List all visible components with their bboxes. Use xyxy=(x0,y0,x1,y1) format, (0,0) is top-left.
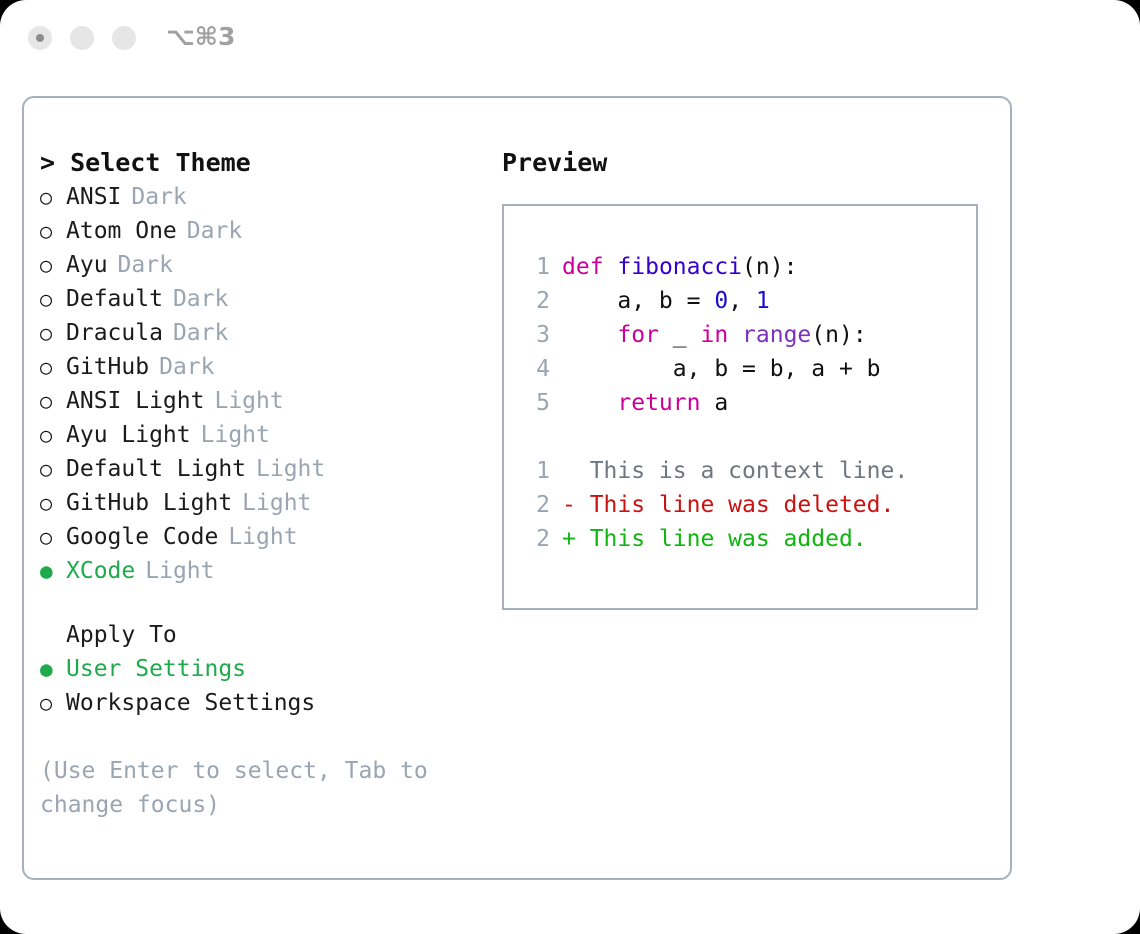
theme-kind-label: Light xyxy=(242,486,311,520)
code-token-num: 1 xyxy=(756,288,770,314)
code-token-pl: a, b = b, a + b xyxy=(562,356,881,382)
theme-option-default[interactable]: ○DefaultDark xyxy=(40,282,480,316)
theme-name-label: Default Light xyxy=(66,452,246,486)
theme-kind-label: Dark xyxy=(131,180,186,214)
code-token-kw: for xyxy=(617,322,659,348)
radio-unselected-icon: ○ xyxy=(40,316,66,350)
radio-unselected-icon: ○ xyxy=(40,248,66,282)
theme-selection-column: > Select Theme ○ANSIDark○Atom OneDark○Ay… xyxy=(40,146,480,822)
select-theme-heading: > Select Theme xyxy=(40,146,480,180)
diff-text-add: + This line was added. xyxy=(562,522,867,556)
spacer xyxy=(40,588,480,618)
code-token-pl: a xyxy=(700,390,728,416)
line-number: 2 xyxy=(520,488,550,522)
radio-unselected-icon: ○ xyxy=(40,180,66,214)
theme-list: ○ANSIDark○Atom OneDark○AyuDark○DefaultDa… xyxy=(40,180,480,588)
theme-name-label: Ayu Light xyxy=(66,418,191,452)
code-token-kw: in xyxy=(700,322,728,348)
code-line: 5 return a xyxy=(520,386,976,420)
theme-option-ansi[interactable]: ○ANSIDark xyxy=(40,180,480,214)
theme-name-label: XCode xyxy=(66,554,135,588)
theme-kind-label: Light xyxy=(228,520,297,554)
title-bar: ⌥⌘3 xyxy=(0,0,1140,76)
radio-unselected-icon: ○ xyxy=(40,418,66,452)
code-text: return a xyxy=(562,386,728,420)
radio-unselected-icon: ○ xyxy=(40,452,66,486)
code-token-pl: a, b = xyxy=(562,288,714,314)
theme-kind-label: Dark xyxy=(173,282,228,316)
radio-unselected-icon: ○ xyxy=(40,520,66,554)
minimize-button-icon[interactable] xyxy=(70,26,94,50)
diff-line: 2- This line was deleted. xyxy=(520,488,976,522)
line-number: 2 xyxy=(520,284,550,318)
code-text: for _ in range(n): xyxy=(562,318,867,352)
theme-name-label: Dracula xyxy=(66,316,163,350)
apply-option-workspace-settings[interactable]: ○Workspace Settings xyxy=(40,686,480,720)
preview-box: 1def fibonacci(n):2 a, b = 0, 13 for _ i… xyxy=(502,204,978,610)
code-line: 4 a, b = b, a + b xyxy=(520,352,976,386)
theme-name-label: Google Code xyxy=(66,520,218,554)
theme-option-atom-one[interactable]: ○Atom OneDark xyxy=(40,214,480,248)
code-token-pl: , xyxy=(728,288,756,314)
diff-line: 2+ This line was added. xyxy=(520,522,976,556)
apply-to-list: ●User Settings○Workspace Settings xyxy=(40,652,480,720)
diff-sample: 1 This is a context line.2- This line wa… xyxy=(520,454,976,556)
line-number: 4 xyxy=(520,352,550,386)
theme-option-ayu-light[interactable]: ○Ayu LightLight xyxy=(40,418,480,452)
apply-to-heading: Apply To xyxy=(40,618,480,652)
theme-option-github[interactable]: ○GitHubDark xyxy=(40,350,480,384)
theme-name-label: Atom One xyxy=(66,214,177,248)
code-token-pl xyxy=(562,390,617,416)
code-token-bi: range xyxy=(742,322,811,348)
close-button-icon[interactable] xyxy=(28,26,52,50)
line-number: 3 xyxy=(520,318,550,352)
theme-name-label: GitHub Light xyxy=(66,486,232,520)
diff-text-ctx: This is a context line. xyxy=(562,454,908,488)
theme-option-xcode[interactable]: ●XCodeLight xyxy=(40,554,480,588)
code-token-pl: (n): xyxy=(811,322,866,348)
theme-option-ansi-light[interactable]: ○ANSI LightLight xyxy=(40,384,480,418)
main-panel: > Select Theme ○ANSIDark○Atom OneDark○Ay… xyxy=(22,96,1012,880)
line-number: 5 xyxy=(520,386,550,420)
code-token-kw: return xyxy=(617,390,700,416)
code-token-pl xyxy=(562,322,617,348)
code-line: 1def fibonacci(n): xyxy=(520,250,976,284)
apply-option-user-settings[interactable]: ●User Settings xyxy=(40,652,480,686)
theme-option-ayu[interactable]: ○AyuDark xyxy=(40,248,480,282)
radio-selected-icon: ● xyxy=(40,652,66,686)
code-text: a, b = b, a + b xyxy=(562,352,881,386)
code-text: a, b = 0, 1 xyxy=(562,284,770,318)
theme-kind-label: Light xyxy=(201,418,270,452)
theme-kind-label: Dark xyxy=(173,316,228,350)
app-window: ⌥⌘3 > Select Theme ○ANSIDark○Atom OneDar… xyxy=(0,0,1140,934)
line-number: 1 xyxy=(520,250,550,284)
theme-kind-label: Dark xyxy=(118,248,173,282)
code-sample: 1def fibonacci(n):2 a, b = 0, 13 for _ i… xyxy=(520,250,976,420)
maximize-button-icon[interactable] xyxy=(112,26,136,50)
theme-option-google-code[interactable]: ○Google CodeLight xyxy=(40,520,480,554)
code-token-pl: (n): xyxy=(742,254,797,280)
keyboard-hint-text: (Use Enter to select, Tab to change focu… xyxy=(40,754,440,822)
theme-name-label: Ayu xyxy=(66,248,108,282)
code-token-pl xyxy=(728,322,742,348)
radio-unselected-icon: ○ xyxy=(40,686,66,720)
radio-unselected-icon: ○ xyxy=(40,214,66,248)
spacer xyxy=(520,420,976,454)
theme-option-github-light[interactable]: ○GitHub LightLight xyxy=(40,486,480,520)
window-controls xyxy=(28,26,136,50)
apply-option-label: Workspace Settings xyxy=(66,686,315,720)
keyboard-shortcut-label: ⌥⌘3 xyxy=(166,22,235,51)
radio-unselected-icon: ○ xyxy=(40,282,66,316)
theme-name-label: ANSI Light xyxy=(66,384,204,418)
preview-column: Preview 1def fibonacci(n):2 a, b = 0, 13… xyxy=(502,146,992,610)
radio-unselected-icon: ○ xyxy=(40,384,66,418)
code-token-num: 0 xyxy=(714,288,728,314)
theme-option-dracula[interactable]: ○DraculaDark xyxy=(40,316,480,350)
code-token-kw: def xyxy=(562,254,604,280)
theme-kind-label: Light xyxy=(256,452,325,486)
code-token-pl xyxy=(604,254,618,280)
code-text: def fibonacci(n): xyxy=(562,250,797,284)
theme-option-default-light[interactable]: ○Default LightLight xyxy=(40,452,480,486)
close-dot-icon xyxy=(36,34,44,42)
code-token-fn: fibonacci xyxy=(617,254,742,280)
theme-name-label: GitHub xyxy=(66,350,149,384)
radio-unselected-icon: ○ xyxy=(40,486,66,520)
theme-name-label: Default xyxy=(66,282,163,316)
preview-heading: Preview xyxy=(502,146,992,180)
code-token-pl: _ xyxy=(659,322,701,348)
theme-name-label: ANSI xyxy=(66,180,121,214)
radio-selected-icon: ● xyxy=(40,554,66,588)
theme-kind-label: Light xyxy=(214,384,283,418)
radio-unselected-icon: ○ xyxy=(40,350,66,384)
code-line: 2 a, b = 0, 1 xyxy=(520,284,976,318)
line-number: 2 xyxy=(520,522,550,556)
theme-kind-label: Dark xyxy=(187,214,242,248)
line-number: 1 xyxy=(520,454,550,488)
diff-text-del: - This line was deleted. xyxy=(562,488,894,522)
theme-kind-label: Light xyxy=(145,554,214,588)
diff-line: 1 This is a context line. xyxy=(520,454,976,488)
apply-option-label: User Settings xyxy=(66,652,246,686)
theme-kind-label: Dark xyxy=(159,350,214,384)
code-line: 3 for _ in range(n): xyxy=(520,318,976,352)
